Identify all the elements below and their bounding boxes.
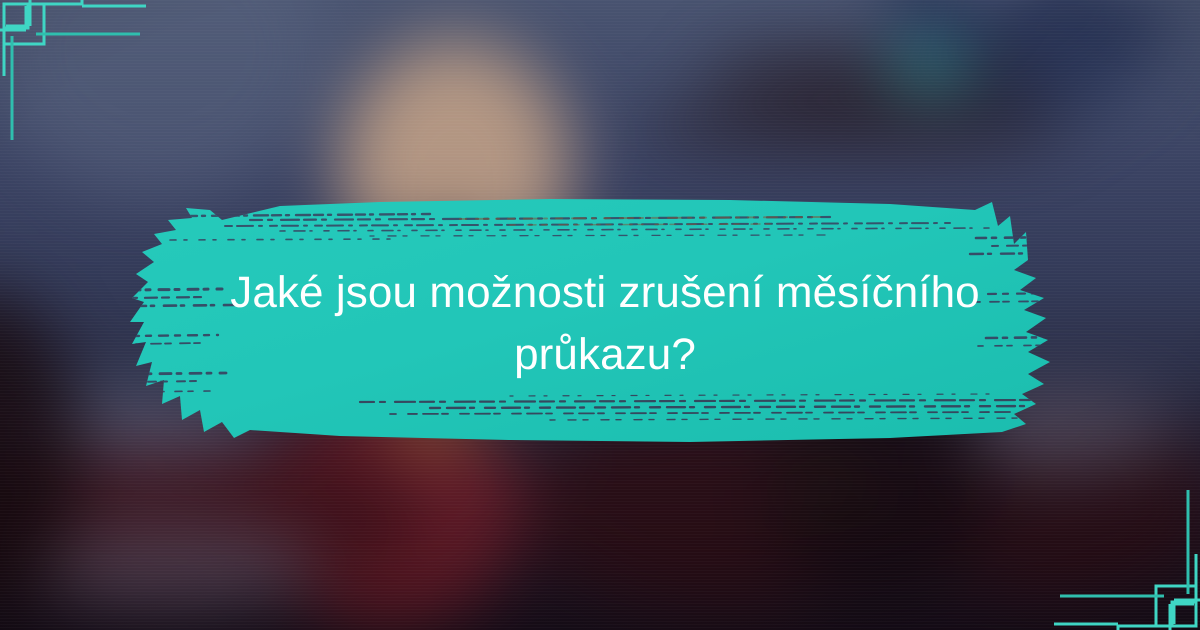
bg-shape-amber-glint (790, 450, 860, 510)
bg-shape-floor-bottom (20, 520, 320, 610)
social-share-card: Jaké jsou možnosti zrušení měsíčního prů… (0, 0, 1200, 630)
bg-shape-dark-bar-upper (700, 50, 1030, 100)
corner-bracket-bottom-right-icon (1020, 480, 1200, 630)
headline-text: Jaké jsou možnosti zrušení měsíčního prů… (210, 262, 1000, 386)
bg-shape-dark-left-edge (0, 290, 80, 620)
bg-shape-dark-bar-lower (640, 105, 1070, 151)
bg-shape-monitor (890, 0, 1170, 120)
bg-shape-maroon-left (0, 430, 420, 600)
bg-shape-wall-panel (0, 0, 330, 200)
bg-shape-teal-glow (890, 48, 970, 82)
corner-bracket-top-left-icon (0, 0, 180, 150)
